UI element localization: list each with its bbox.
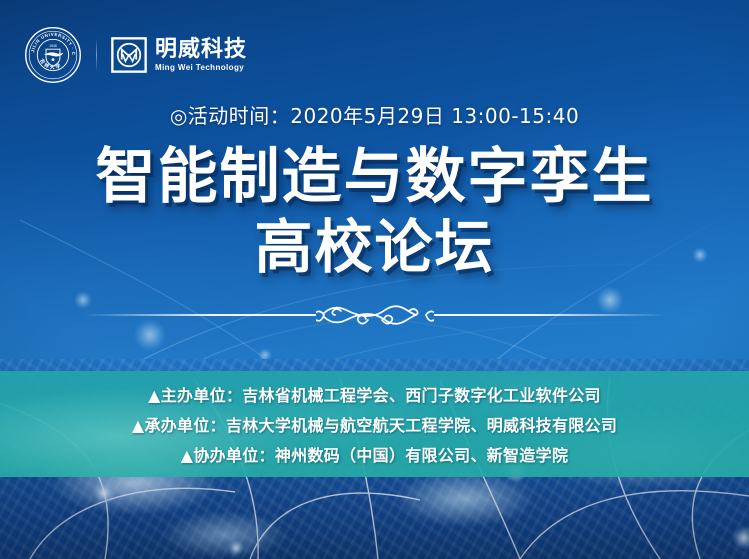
poster-title: 智能制造与数字孪生 高校论坛 — [0, 142, 749, 280]
ming-wei-monogram-icon — [111, 37, 147, 73]
divider-line-left — [84, 314, 316, 316]
logo-divider — [96, 38, 97, 72]
event-datetime: ◎活动时间：2020年5月29日 13:00-15:40 — [0, 100, 749, 129]
ming-wei-name-cn: 明威科技 — [155, 38, 247, 61]
divider-line-right — [434, 314, 666, 316]
scroll-flourish-icon — [316, 300, 434, 330]
organizer-coorganizer: ▲协办单位：神州数码（中国）有限公司、新智造学院 — [181, 442, 569, 466]
svg-text:1946: 1946 — [49, 44, 57, 48]
title-line-2: 高校论坛 — [0, 214, 749, 280]
ming-wei-name-en: Ming Wei Technology — [155, 63, 247, 73]
ming-wei-wordmark: 明威科技 Ming Wei Technology — [155, 38, 247, 73]
header-logos: JILIN UNIVERSITY · CHINA 吉林大学 1946 明威科技 … — [24, 26, 247, 84]
organizer-undertaker: ▲承办单位：吉林大学机械与航空航天工程学院、明威科技有限公司 — [132, 412, 617, 436]
organizers-list: ▲主办单位：吉林省机械工程学会、西门子数字化工业软件公司 ▲承办单位：吉林大学机… — [0, 374, 749, 474]
ornamental-divider — [0, 300, 749, 330]
poster-root: JILIN UNIVERSITY · CHINA 吉林大学 1946 明威科技 … — [0, 0, 749, 559]
ming-wei-logo: 明威科技 Ming Wei Technology — [111, 37, 247, 73]
jilin-university-seal-icon: JILIN UNIVERSITY · CHINA 吉林大学 1946 — [24, 26, 82, 84]
title-line-1: 智能制造与数字孪生 — [0, 142, 749, 212]
organizer-host: ▲主办单位：吉林省机械工程学会、西门子数字化工业软件公司 — [148, 382, 601, 406]
